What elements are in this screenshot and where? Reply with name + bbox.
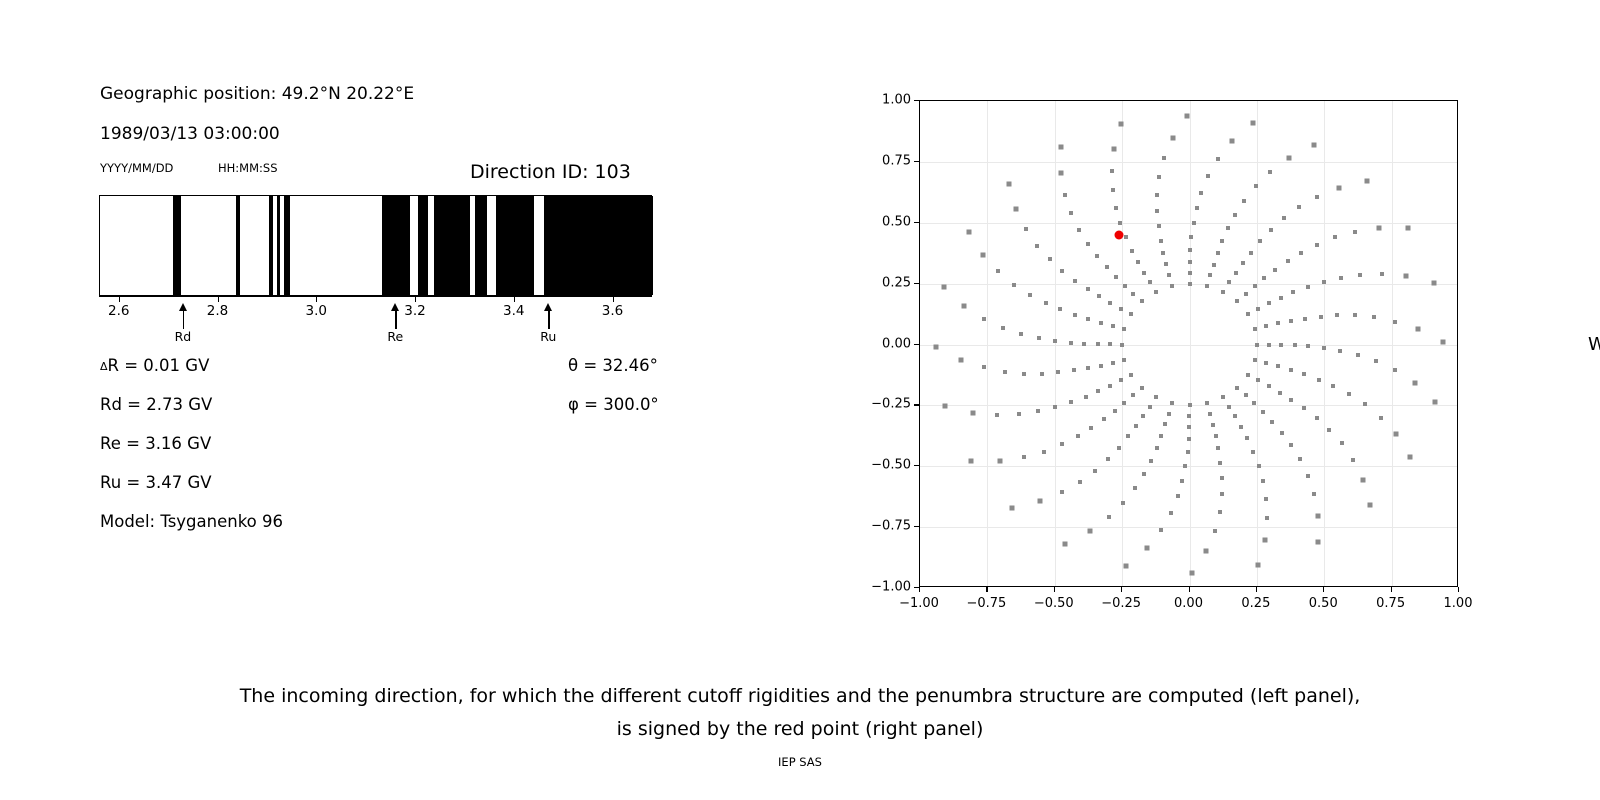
- direction-grid-point: [1037, 499, 1042, 504]
- direction-grid-point: [1340, 441, 1344, 445]
- direction-grid-point: [1331, 384, 1335, 388]
- gridline-vertical: [1392, 101, 1393, 586]
- direction-grid-point: [1221, 290, 1225, 294]
- arrow-shaft: [183, 309, 185, 329]
- direction-grid-point: [1111, 361, 1115, 365]
- direction-grid-point: [1256, 307, 1260, 311]
- direction-grid-point: [1303, 317, 1307, 321]
- direction-grid-point: [1298, 457, 1302, 461]
- direction-grid-point: [1431, 281, 1436, 286]
- direction-grid-point: [1206, 174, 1210, 178]
- gridline-vertical: [1324, 101, 1325, 586]
- direction-grid-point: [1218, 510, 1222, 514]
- x-axis-tick-label: 1.00: [1444, 596, 1473, 611]
- direction-grid-point: [1102, 417, 1106, 421]
- rigidity-tick-label: 3.4: [503, 303, 524, 319]
- direction-grid-point: [1086, 317, 1090, 321]
- arrow-head-icon: [391, 303, 399, 311]
- direction-grid-point: [1140, 386, 1144, 390]
- arrow-shaft: [548, 309, 550, 329]
- direction-grid-point: [969, 458, 974, 463]
- direction-grid-point: [1205, 284, 1209, 288]
- arrow-shaft: [395, 309, 397, 329]
- direction-grid-point: [1227, 280, 1231, 284]
- rigidity-tick-mark: [119, 296, 120, 302]
- x-axis-tick-label: 0.00: [1174, 596, 1203, 611]
- direction-grid-point: [1372, 315, 1376, 319]
- direction-grid-point: [1216, 157, 1220, 161]
- y-axis-tick-label: 0.50: [851, 214, 911, 229]
- forbidden-band: [173, 196, 181, 295]
- direction-grid-point: [1183, 464, 1187, 468]
- direction-grid-point: [1095, 254, 1099, 258]
- direction-grid-point: [1099, 321, 1103, 325]
- direction-grid-point: [1087, 528, 1092, 533]
- direction-grid-point: [971, 410, 976, 415]
- direction-grid-point: [1010, 505, 1015, 510]
- direction-grid-point: [1289, 368, 1293, 372]
- rigidity-tick-mark: [316, 296, 317, 302]
- direction-grid-point: [1189, 235, 1193, 239]
- direction-grid-point: [962, 303, 967, 308]
- direction-grid-point: [1311, 143, 1316, 148]
- direction-grid-point: [1415, 327, 1420, 332]
- direction-grid-point: [1376, 226, 1381, 231]
- direction-grid-point: [1262, 537, 1267, 542]
- x-axis-tick-label: 0.25: [1241, 596, 1270, 611]
- direction-grid-point: [1069, 211, 1073, 215]
- direction-grid-point: [1338, 349, 1342, 353]
- arrow-head-icon: [179, 303, 187, 311]
- direction-grid-point: [982, 317, 986, 321]
- direction-grid-point: [1140, 299, 1144, 303]
- direction-grid-point: [1267, 343, 1271, 347]
- direction-grid-point: [1078, 480, 1082, 484]
- direction-grid-point: [1364, 179, 1369, 184]
- direction-grid-point: [1208, 273, 1212, 277]
- direction-grid-point: [1363, 402, 1367, 406]
- direction-grid-point: [1113, 409, 1117, 413]
- direction-grid-point: [1184, 113, 1189, 118]
- direction-grid-point: [1073, 313, 1077, 317]
- direction-grid-point: [1393, 432, 1398, 437]
- direction-grid-point: [1053, 405, 1057, 409]
- y-axis-tick-label: −0.75: [851, 519, 911, 534]
- direction-grid-point: [1253, 284, 1257, 288]
- direction-grid-point: [995, 413, 999, 417]
- direction-grid-point: [1142, 271, 1146, 275]
- direction-grid-point: [1076, 434, 1080, 438]
- direction-grid-point: [1440, 340, 1445, 345]
- direction-grid-point: [1253, 327, 1257, 331]
- direction-grid-point: [1086, 242, 1090, 246]
- y-axis-tick-label: 0.75: [851, 153, 911, 168]
- direction-grid-point: [1279, 296, 1283, 300]
- selected-direction-marker[interactable]: [1115, 230, 1124, 239]
- direction-grid-point: [1060, 269, 1064, 273]
- direction-grid-point: [1060, 442, 1064, 446]
- param-delta-r-value: R = 0.01 GV: [108, 356, 210, 375]
- direction-grid-point: [1289, 443, 1293, 447]
- direction-grid-point: [1119, 378, 1123, 382]
- x-axis-tick-label: −0.25: [1101, 596, 1141, 611]
- direction-grid-point: [1006, 182, 1011, 187]
- direction-grid-point: [1003, 370, 1007, 374]
- direction-grid-point: [1380, 272, 1384, 276]
- direction-grid-point: [1131, 292, 1135, 296]
- rigidity-marker-arrow-ru: [548, 303, 550, 329]
- direction-grid-point: [1339, 276, 1343, 280]
- x-axis-tick-label: −0.50: [1034, 596, 1074, 611]
- direction-grid-point: [1297, 205, 1301, 209]
- y-axis-tick-mark: [914, 161, 919, 162]
- direction-grid-point: [1170, 284, 1174, 288]
- direction-grid-point: [1022, 372, 1026, 376]
- geographic-position-text: Geographic position: 49.2°N 20.22°E: [100, 84, 414, 104]
- direction-grid-point: [1306, 474, 1310, 478]
- gridline-vertical: [1055, 101, 1056, 586]
- forbidden-band: [277, 196, 280, 295]
- direction-grid-point: [1176, 494, 1180, 498]
- forbidden-band: [418, 196, 428, 295]
- direction-grid-point: [1122, 327, 1126, 331]
- direction-grid-point: [982, 365, 986, 369]
- direction-grid-point: [1289, 319, 1293, 323]
- forbidden-band: [284, 196, 290, 295]
- direction-grid-point: [1122, 401, 1126, 405]
- direction-map-chart: [919, 100, 1458, 587]
- direction-grid-point: [1316, 539, 1321, 544]
- direction-grid-point: [1159, 239, 1163, 243]
- datetime-text: 1989/03/13 03:00:00: [100, 124, 280, 144]
- direction-grid-point: [1141, 414, 1145, 418]
- direction-grid-point: [1124, 564, 1129, 569]
- direction-grid-point: [1280, 431, 1284, 435]
- direction-grid-point: [1264, 324, 1268, 328]
- x-axis-tick-mark: [919, 587, 920, 592]
- direction-grid-point: [1149, 459, 1153, 463]
- x-axis-tick-mark: [1323, 587, 1324, 592]
- direction-grid-point: [934, 344, 939, 349]
- direction-grid-point: [1036, 409, 1040, 413]
- direction-grid-point: [1124, 235, 1128, 239]
- direction-grid-point: [1267, 301, 1271, 305]
- x-axis-tick-mark: [1256, 587, 1257, 592]
- direction-grid-point: [1188, 271, 1192, 275]
- x-axis-tick-label: 0.75: [1376, 596, 1405, 611]
- direction-grid-point: [1089, 426, 1093, 430]
- forbidden-band: [475, 196, 486, 295]
- direction-grid-point: [1220, 476, 1224, 480]
- direction-grid-point: [1262, 276, 1266, 280]
- direction-grid-point: [1096, 342, 1100, 346]
- direction-grid-point: [1063, 193, 1067, 197]
- direction-grid-point: [1258, 239, 1262, 243]
- direction-grid-point: [1312, 492, 1316, 496]
- direction-grid-point: [1405, 226, 1410, 231]
- direction-grid-point: [1012, 283, 1016, 287]
- direction-grid-point: [1040, 372, 1044, 376]
- direction-grid-point: [1058, 145, 1063, 150]
- direction-grid-point: [1120, 343, 1124, 347]
- left-panel: Geographic position: 49.2°N 20.22°E 1989…: [0, 0, 760, 660]
- direction-grid-point: [1148, 405, 1152, 409]
- param-model: Model: Tsyganenko 96: [100, 512, 283, 531]
- direction-grid-point: [1155, 193, 1159, 197]
- direction-grid-point: [1069, 341, 1073, 345]
- direction-grid-point: [1214, 434, 1218, 438]
- gridline-vertical: [987, 101, 988, 586]
- direction-grid-point: [1315, 416, 1319, 420]
- direction-grid-point: [1322, 346, 1326, 350]
- gridline-horizontal: [920, 345, 1457, 346]
- direction-grid-point: [1282, 216, 1286, 220]
- rigidity-marker-label: Re: [387, 329, 403, 344]
- direction-grid-point: [1234, 271, 1238, 275]
- direction-grid-point: [1167, 412, 1171, 416]
- direction-grid-point: [1190, 571, 1195, 576]
- direction-grid-point: [1264, 497, 1268, 501]
- delta-symbol: Δ: [100, 360, 108, 373]
- direction-grid-point: [1270, 420, 1274, 424]
- direction-grid-point: [1269, 228, 1273, 232]
- direction-grid-point: [1251, 450, 1255, 454]
- direction-grid-point: [1058, 171, 1063, 176]
- rigidity-tick-mark: [613, 296, 614, 302]
- direction-grid-point: [1299, 251, 1303, 255]
- direction-grid-point: [1093, 469, 1097, 473]
- direction-grid-point: [1159, 528, 1163, 532]
- direction-grid-point: [1155, 209, 1159, 213]
- direction-grid-point: [1187, 437, 1191, 441]
- direction-grid-point: [1192, 221, 1196, 225]
- direction-grid-point: [1408, 454, 1413, 459]
- direction-grid-point: [1136, 260, 1140, 264]
- direction-grid-point: [1432, 399, 1437, 404]
- y-axis-tick-label: 0.25: [851, 275, 911, 290]
- gridline-horizontal: [920, 223, 1457, 224]
- caption-line-2: is signed by the red point (right panel): [617, 718, 984, 740]
- direction-grid-point: [1213, 529, 1217, 533]
- direction-grid-point: [1393, 320, 1397, 324]
- y-axis-tick-label: 1.00: [851, 93, 911, 108]
- param-ru: Ru = 3.47 GV: [100, 473, 212, 492]
- direction-grid-point: [1241, 261, 1245, 265]
- direction-grid-point: [1024, 227, 1028, 231]
- direction-grid-point: [1072, 368, 1076, 372]
- direction-grid-point: [1195, 206, 1199, 210]
- direction-grid-point: [1107, 515, 1111, 519]
- compass-label-west: W: [1588, 334, 1600, 355]
- direction-grid-point: [1121, 501, 1125, 505]
- rigidity-marker-label: Ru: [540, 329, 556, 344]
- direction-grid-point: [1255, 343, 1259, 347]
- rigidity-tick-label: 3.0: [306, 303, 327, 319]
- direction-grid-point: [1322, 280, 1326, 284]
- direction-grid-point: [1170, 401, 1174, 405]
- direction-grid-point: [1246, 373, 1250, 377]
- gridline-horizontal: [920, 162, 1457, 163]
- direction-grid-point: [1167, 273, 1171, 277]
- direction-grid-point: [1063, 541, 1068, 546]
- direction-grid-point: [1278, 391, 1282, 395]
- direction-grid-point: [1249, 251, 1253, 255]
- direction-grid-point: [1142, 472, 1146, 476]
- direction-grid-point: [1060, 490, 1064, 494]
- direction-grid-point: [1205, 401, 1209, 405]
- direction-grid-point: [1155, 446, 1159, 450]
- y-axis-tick-mark: [914, 465, 919, 466]
- direction-grid-point: [1216, 251, 1220, 255]
- direction-grid-point: [1096, 389, 1100, 393]
- direction-grid-point: [1186, 450, 1190, 454]
- direction-grid-point: [1133, 486, 1137, 490]
- direction-grid-point: [1315, 195, 1319, 199]
- time-format-label: HH:MM:SS: [218, 161, 278, 175]
- direction-grid-point: [1230, 139, 1235, 144]
- direction-grid-point: [1086, 287, 1090, 291]
- direction-grid-point: [1245, 436, 1249, 440]
- direction-grid-point: [1187, 414, 1191, 418]
- direction-grid-point: [1316, 513, 1321, 518]
- direction-grid-point: [1218, 461, 1222, 465]
- direction-grid-point: [1187, 425, 1191, 429]
- direction-grid-point: [1164, 262, 1168, 266]
- direction-grid-point: [1013, 207, 1018, 212]
- direction-grid-point: [1393, 368, 1397, 372]
- direction-grid-point: [1069, 400, 1073, 404]
- gridline-horizontal: [920, 466, 1457, 467]
- direction-grid-point: [1108, 384, 1112, 388]
- direction-grid-point: [998, 458, 1003, 463]
- direction-grid-point: [1110, 169, 1114, 173]
- y-axis-tick-label: −0.25: [851, 397, 911, 412]
- direction-grid-point: [1261, 479, 1265, 483]
- rigidity-tick-mark: [415, 296, 416, 302]
- direction-grid-point: [1319, 315, 1323, 319]
- direction-grid-point: [1220, 492, 1224, 496]
- rigidity-axis-line: [99, 296, 652, 297]
- direction-grid-point: [1279, 343, 1283, 347]
- rigidity-marker-arrow-rd: [183, 303, 185, 329]
- direction-grid-point: [1333, 235, 1337, 239]
- direction-grid-point: [1159, 434, 1163, 438]
- direction-grid-point: [1337, 185, 1342, 190]
- y-axis-tick-label: −0.50: [851, 458, 911, 473]
- forbidden-band: [544, 196, 653, 295]
- direction-grid-point: [1019, 332, 1023, 336]
- direction-grid-point: [1227, 405, 1231, 409]
- direction-grid-point: [1356, 353, 1360, 357]
- direction-grid-point: [1037, 336, 1041, 340]
- y-axis-tick-mark: [914, 344, 919, 345]
- direction-grid-point: [1256, 378, 1260, 382]
- direction-grid-point: [1273, 268, 1277, 272]
- forbidden-band: [236, 196, 241, 295]
- direction-grid-point: [1001, 326, 1005, 330]
- direction-grid-point: [1188, 260, 1192, 264]
- direction-grid-point: [996, 269, 1000, 273]
- direction-grid-point: [1077, 228, 1081, 232]
- forbidden-band: [434, 196, 470, 295]
- direction-grid-point: [1157, 175, 1161, 179]
- param-phi: φ = 300.0°: [568, 395, 659, 414]
- direction-grid-point: [1161, 251, 1165, 255]
- y-axis-tick-mark: [914, 100, 919, 101]
- direction-grid-point: [1268, 170, 1272, 174]
- direction-id-text: Direction ID: 103: [470, 161, 631, 183]
- direction-grid-point: [1403, 274, 1408, 279]
- direction-grid-point: [1131, 393, 1135, 397]
- direction-grid-point: [1353, 313, 1357, 317]
- y-axis-tick-mark: [914, 222, 919, 223]
- direction-grid-point: [1148, 280, 1152, 284]
- direction-grid-point: [1028, 293, 1032, 297]
- gridline-horizontal: [920, 527, 1457, 528]
- direction-grid-point: [1162, 156, 1166, 160]
- direction-grid-point: [1235, 386, 1239, 390]
- direction-grid-point: [1105, 265, 1109, 269]
- direction-grid-point: [1374, 359, 1378, 363]
- direction-grid-point: [1044, 301, 1048, 305]
- direction-grid-point: [1129, 373, 1133, 377]
- direction-grid-point: [1315, 243, 1319, 247]
- direction-grid-point: [1327, 428, 1331, 432]
- direction-grid-point: [1017, 412, 1021, 416]
- direction-grid-point: [1086, 366, 1090, 370]
- direction-grid-point: [1119, 122, 1124, 127]
- direction-grid-point: [1122, 358, 1126, 362]
- direction-grid-point: [1253, 358, 1257, 362]
- y-axis-tick-label: −1.00: [851, 580, 911, 595]
- direction-grid-point: [1097, 294, 1101, 298]
- y-axis-tick-label: 0.00: [851, 336, 911, 351]
- direction-grid-point: [1261, 410, 1265, 414]
- y-axis-tick-mark: [914, 404, 919, 405]
- direction-grid-point: [1111, 188, 1115, 192]
- rigidity-tick-mark: [218, 296, 219, 302]
- direction-grid-point: [1221, 395, 1225, 399]
- direction-grid-point: [1335, 313, 1339, 317]
- direction-grid-point: [1118, 221, 1122, 225]
- direction-grid-point: [1099, 364, 1103, 368]
- direction-grid-point: [1302, 406, 1306, 410]
- direction-grid-point: [981, 252, 986, 257]
- direction-grid-point: [966, 230, 971, 235]
- rigidity-tick-label: 2.8: [207, 303, 228, 319]
- arrow-head-icon: [544, 303, 552, 311]
- direction-grid-point: [1157, 224, 1161, 228]
- direction-grid-point: [1212, 263, 1216, 267]
- rigidity-tick-label: 2.6: [108, 303, 129, 319]
- direction-grid-point: [1114, 275, 1118, 279]
- direction-grid-point: [1233, 213, 1237, 217]
- rigidity-marker-arrow-re: [395, 303, 397, 329]
- direction-grid-point: [1154, 290, 1158, 294]
- direction-grid-point: [1257, 464, 1261, 468]
- direction-grid-point: [1208, 412, 1212, 416]
- direction-grid-point: [1188, 403, 1192, 407]
- direction-grid-point: [1306, 344, 1310, 348]
- direction-grid-point: [1412, 381, 1417, 386]
- direction-grid-point: [1242, 199, 1246, 203]
- credit-label: IEP SAS: [778, 755, 822, 769]
- direction-grid-point: [1220, 239, 1224, 243]
- caption-line-1: The incoming direction, for which the di…: [240, 685, 1361, 707]
- direction-grid-point: [1058, 307, 1062, 311]
- direction-grid-point: [1117, 446, 1121, 450]
- direction-grid-point: [959, 357, 964, 362]
